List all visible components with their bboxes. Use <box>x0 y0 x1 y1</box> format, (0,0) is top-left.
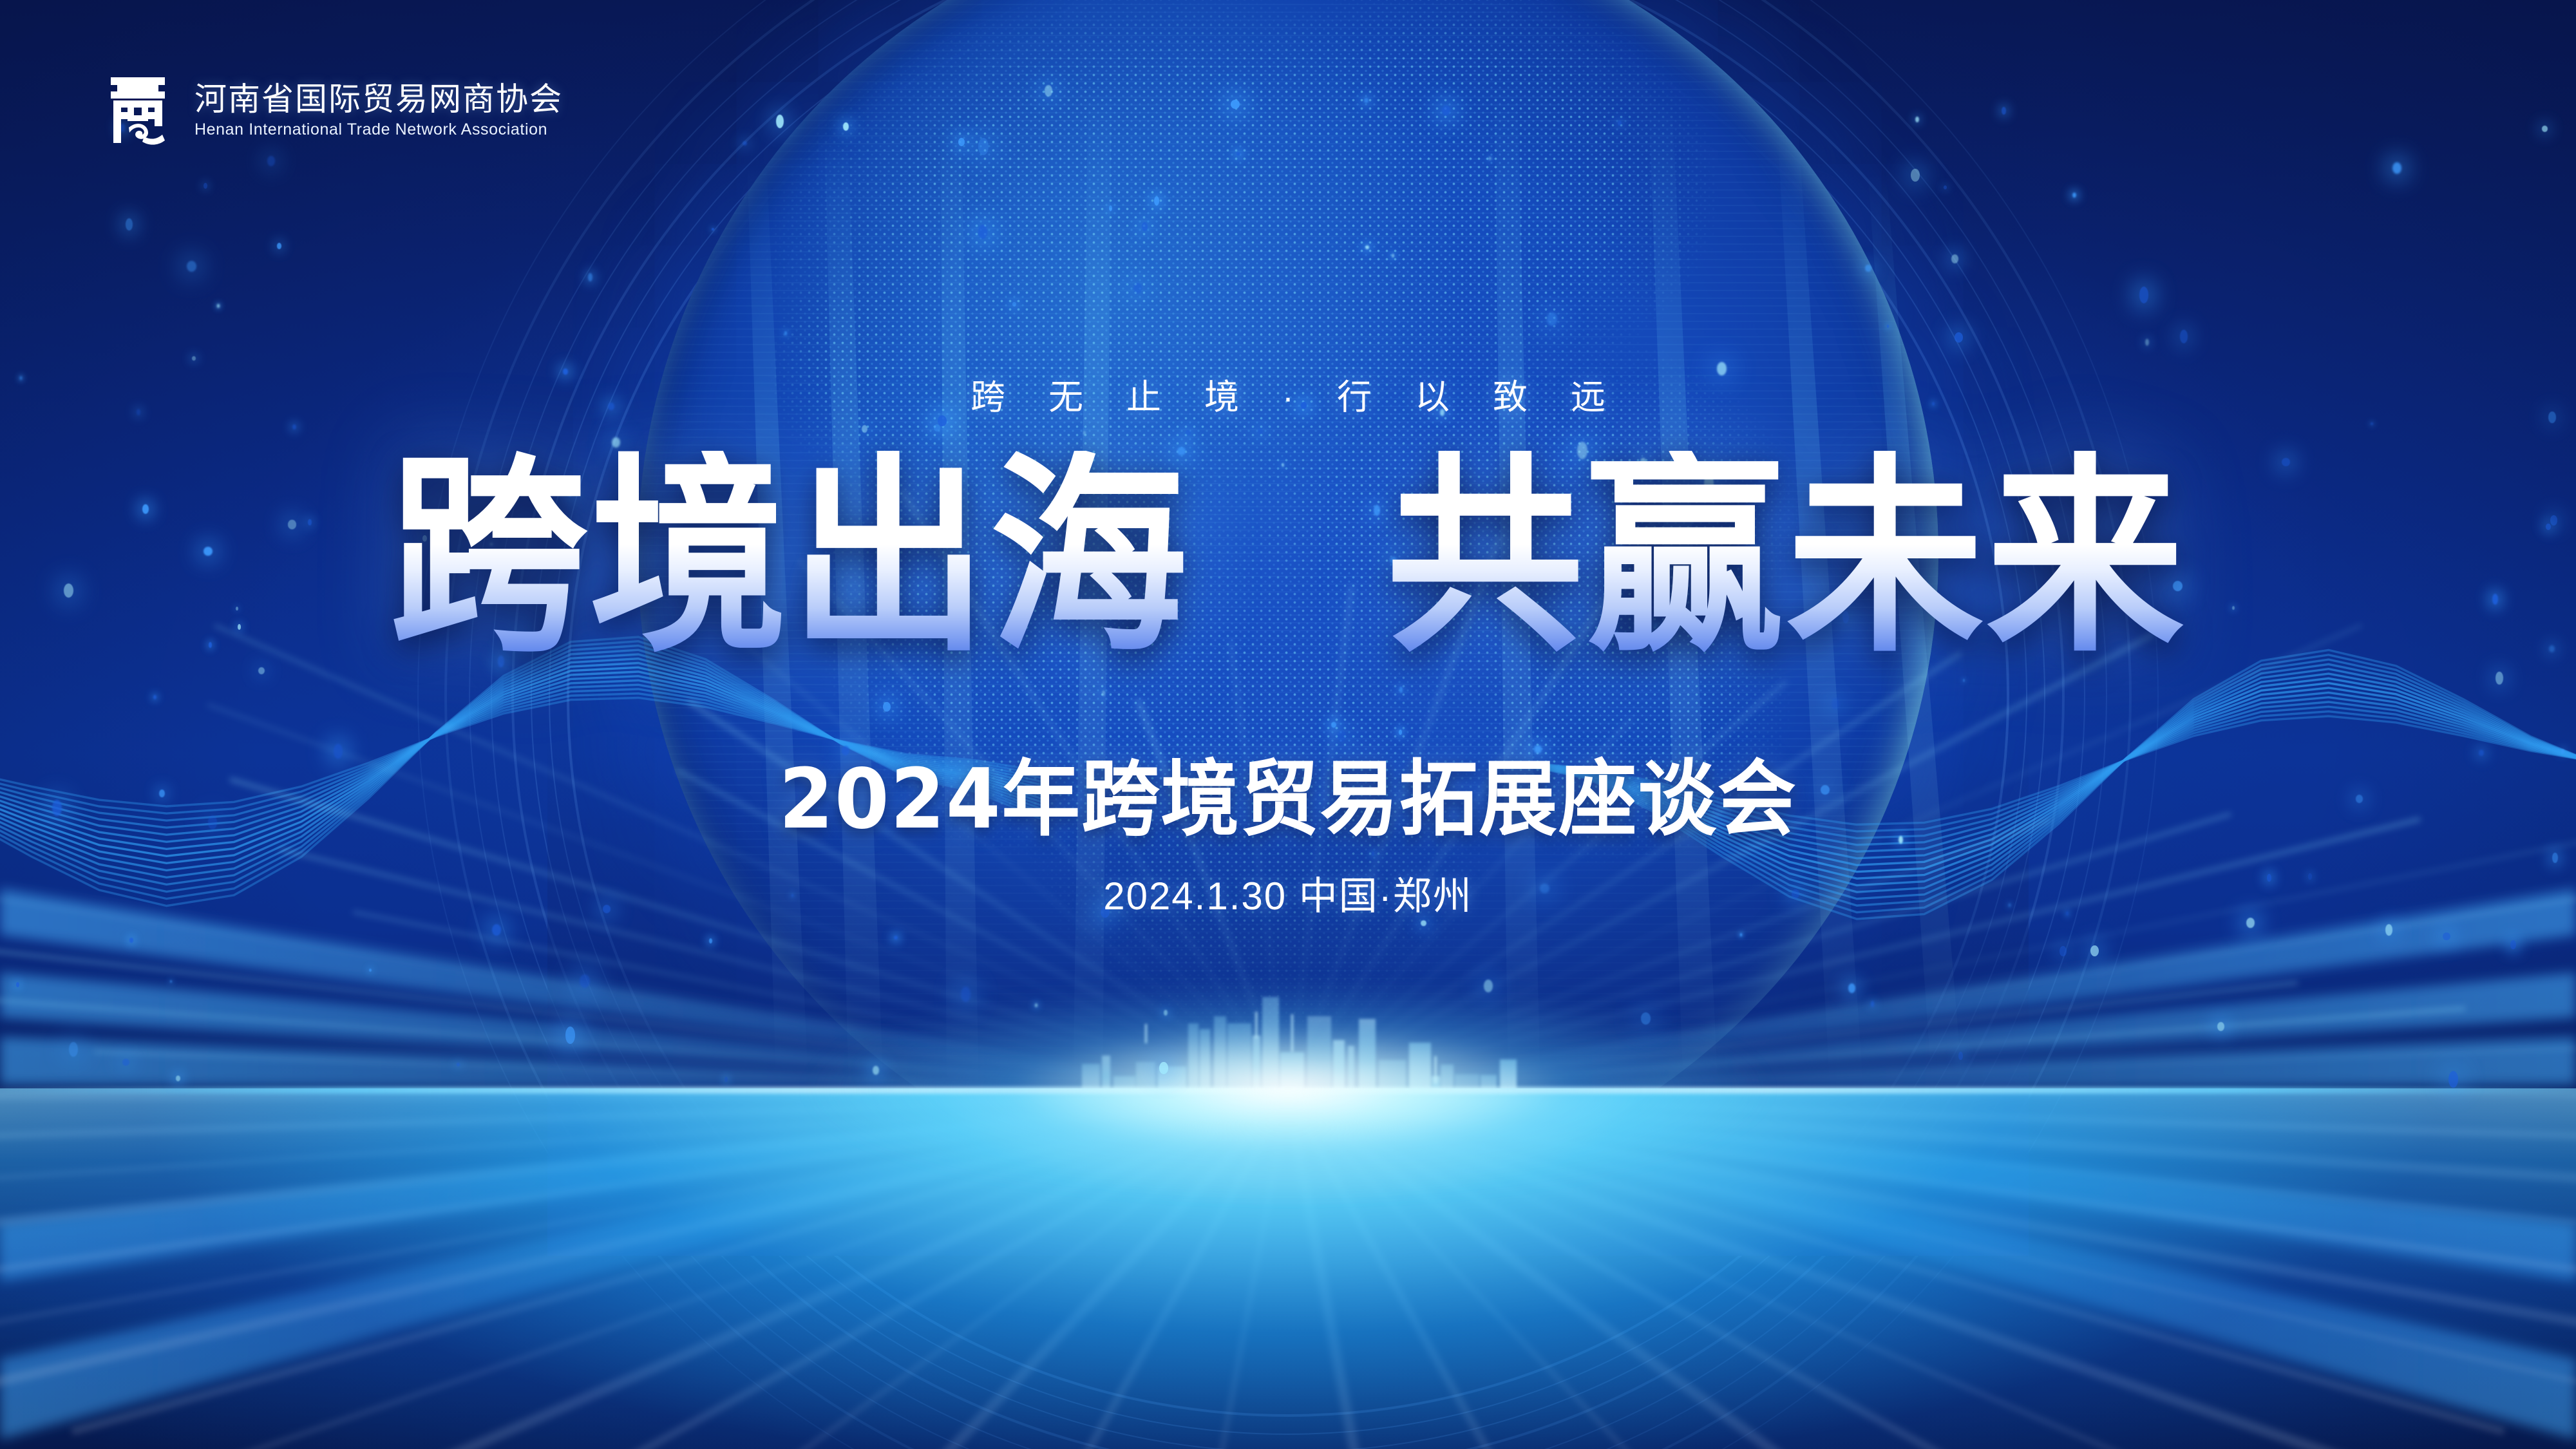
event-date-location: 2024.1.30 中国·郑州 <box>0 877 2576 916</box>
hero-tagline: 跨 无 止 境 · 行 以 致 远 <box>0 368 2576 419</box>
headline-part-left: 跨境出海 <box>390 433 1189 681</box>
poster-canvas: 河南省国际贸易网商协会 Henan International Trade Ne… <box>0 0 2576 1449</box>
hero-headline: 跨境出海 共赢未来 <box>90 451 2486 663</box>
headline-part-right: 共赢未来 <box>1386 433 2186 681</box>
association-logo-lockup[interactable]: 河南省国际贸易网商协会 Henan International Trade Ne… <box>103 72 563 148</box>
poster-content: 河南省国际贸易网商协会 Henan International Trade Ne… <box>0 0 2576 1449</box>
association-name-cn: 河南省国际贸易网商协会 <box>194 83 563 115</box>
hero-subheadline: 2024年跨境贸易拓展座谈会 <box>64 759 2512 841</box>
association-name-en: Henan International Trade Network Associ… <box>194 122 563 138</box>
seal-script-emblem-icon <box>103 72 173 148</box>
